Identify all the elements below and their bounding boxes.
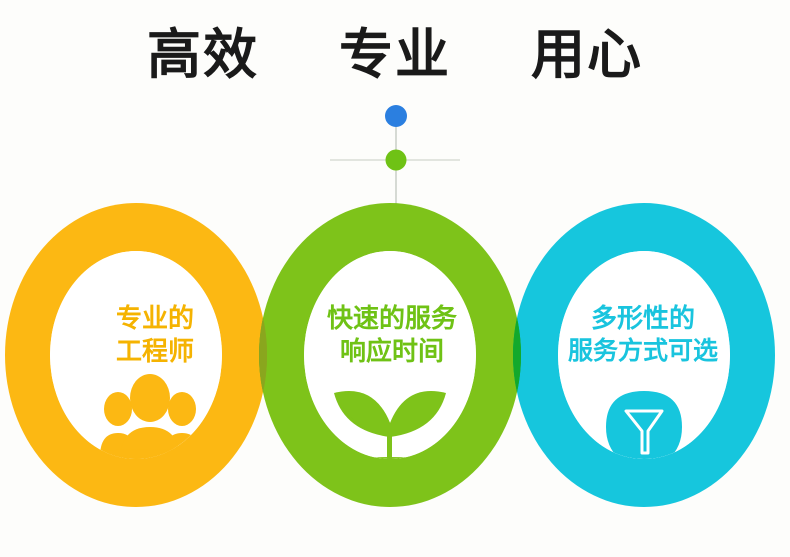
headline-word-2: 专业 — [339, 28, 451, 82]
circle-hole-1 — [50, 251, 222, 459]
connector-graphic — [0, 100, 790, 210]
poster-canvas: 高效 专业 用心 — [0, 0, 790, 557]
connector-blue-dot — [385, 105, 407, 127]
venn-rings-graphic — [0, 195, 790, 515]
page-title: 高效 专业 用心 — [0, 28, 790, 82]
headline-word-1: 高效 — [147, 28, 259, 82]
connector-green-dot — [386, 150, 407, 171]
headline-word-3: 用心 — [531, 28, 643, 82]
